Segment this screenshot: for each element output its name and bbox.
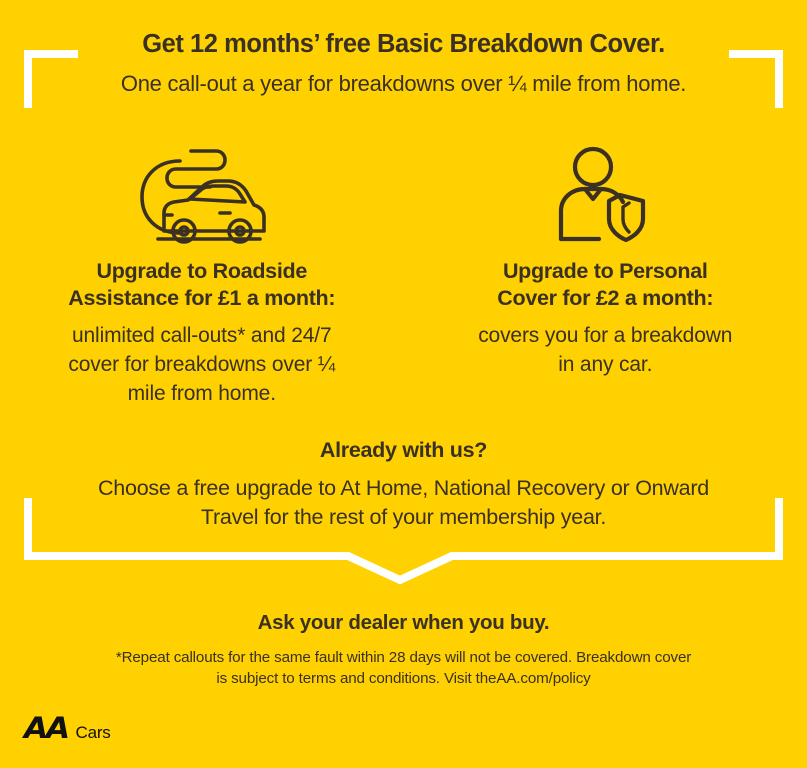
title-line: Upgrade to Personal [454, 258, 758, 285]
disclaimer-line: *Repeat callouts for the same fault with… [0, 647, 807, 669]
body-line: cover for breakdowns over ¼ [52, 351, 352, 380]
existing-member-section: Already with us? Choose a free upgrade t… [0, 438, 807, 532]
body-line: unlimited call-outs* and 24/7 [52, 322, 352, 351]
call-to-action-title: Ask your dealer when you buy. [0, 611, 807, 636]
header: Get 12 months’ free Basic Breakdown Cove… [0, 30, 807, 98]
upgrade-personal-body: covers you for a breakdown in any car. [404, 322, 807, 380]
aa-cars-logo: AA Cars [24, 714, 111, 743]
body-line: mile from home. [52, 380, 352, 409]
upgrade-roadside-body: unlimited call-outs* and 24/7 cover for … [0, 322, 404, 409]
upgrade-roadside-title: Upgrade to Roadside Assistance for £1 a … [0, 258, 404, 313]
body-line: covers you for a breakdown [454, 322, 758, 351]
aa-logomark: AA [24, 714, 68, 743]
body-line: in any car. [454, 351, 758, 380]
page-subheadline: One call-out a year for breakdowns over … [0, 71, 807, 97]
title-line: Assistance for £1 a month: [52, 285, 352, 312]
body-line: Choose a free upgrade to At Home, Nation… [0, 474, 807, 503]
existing-member-title: Already with us? [0, 438, 807, 464]
title-line: Upgrade to Roadside [52, 258, 352, 285]
person-with-shield-icon [404, 143, 807, 247]
upgrade-personal-title: Upgrade to Personal Cover for £2 a month… [404, 258, 807, 313]
aa-cars-wordmark: Cars [76, 724, 111, 741]
upgrade-column-personal: Upgrade to Personal Cover for £2 a month… [404, 143, 807, 380]
footer-disclaimer: *Repeat callouts for the same fault with… [0, 647, 807, 690]
car-with-road-icon [0, 143, 404, 247]
disclaimer-line: is subject to terms and conditions. Visi… [0, 668, 807, 690]
promo-poster: Get 12 months’ free Basic Breakdown Cove… [0, 0, 807, 768]
upgrade-column-roadside: Upgrade to Roadside Assistance for £1 a … [0, 143, 404, 409]
footer-section: Ask your dealer when you buy. *Repeat ca… [0, 611, 807, 690]
existing-member-body: Choose a free upgrade to At Home, Nation… [0, 474, 807, 532]
page-headline: Get 12 months’ free Basic Breakdown Cove… [0, 30, 807, 59]
upgrade-columns: Upgrade to Roadside Assistance for £1 a … [0, 143, 807, 409]
body-line: Travel for the rest of your membership y… [0, 503, 807, 532]
title-line: Cover for £2 a month: [454, 285, 758, 312]
